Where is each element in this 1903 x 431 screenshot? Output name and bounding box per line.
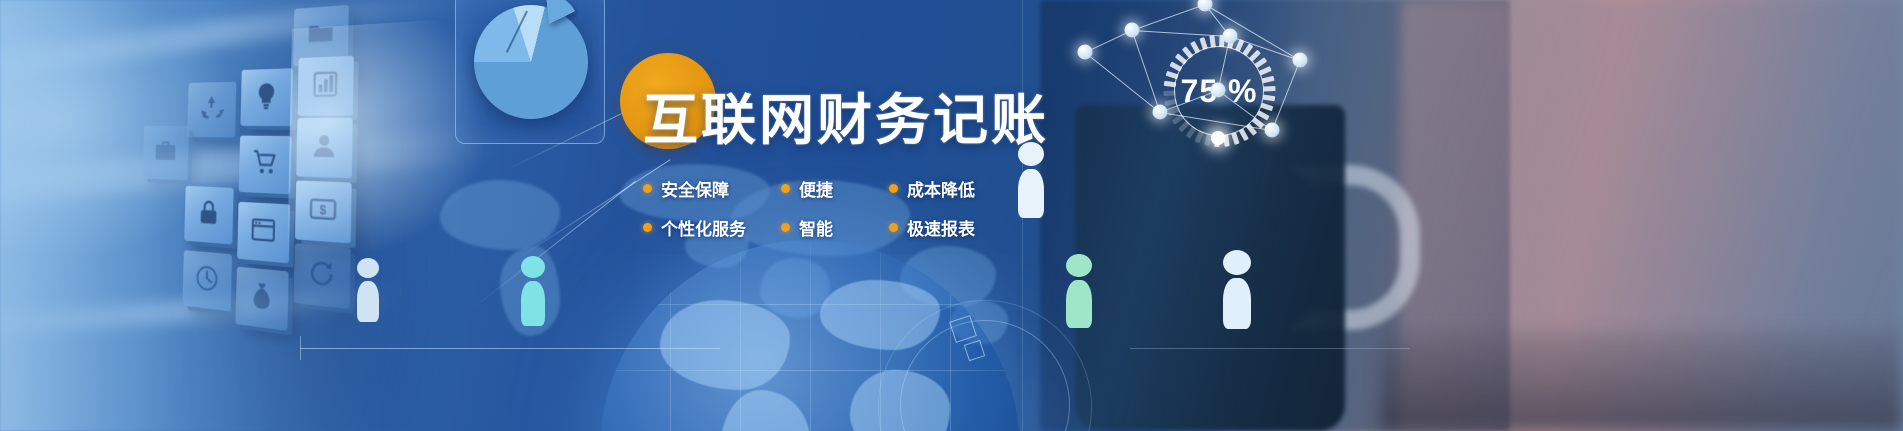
- feature-label: 个性化服务: [661, 215, 746, 240]
- briefcase-icon: [153, 136, 177, 169]
- dollar-card-icon: $: [308, 193, 337, 231]
- person-body: [521, 281, 545, 326]
- bullet-dot-icon: [781, 184, 790, 193]
- browser-window-icon: [250, 214, 278, 251]
- person-figure-3: [1018, 142, 1044, 226]
- cube-money-bag: [235, 267, 288, 331]
- feature-list: 安全保障 便捷 成本降低 个性化服务 智能 极速报表: [643, 176, 1073, 240]
- feature-label: 极速报表: [907, 215, 975, 240]
- money-bag-icon: [248, 279, 276, 317]
- network-node: [1265, 123, 1280, 138]
- floor-shadow: [1380, 330, 1903, 431]
- network-line: [1272, 60, 1301, 130]
- person-head: [1018, 142, 1044, 166]
- lock-icon: [196, 197, 222, 232]
- shopping-cart-icon: [251, 147, 278, 182]
- network-line: [1160, 112, 1272, 131]
- feature-label: 智能: [799, 215, 833, 240]
- cube-chart-bar: [297, 56, 353, 116]
- network-node: [1211, 83, 1226, 98]
- network-node: [1223, 29, 1238, 44]
- feature-label: 便捷: [799, 176, 833, 201]
- person-figure-2: [521, 256, 545, 334]
- feature-label: 成本降低: [907, 176, 975, 201]
- feature-label: 安全保障: [661, 176, 729, 201]
- cube-shopping-cart: [239, 136, 292, 195]
- user-icon: [310, 130, 339, 166]
- svg-text:$: $: [319, 204, 327, 218]
- bullet-dot-icon: [889, 184, 898, 193]
- cube-briefcase: [142, 126, 189, 181]
- person-body: [1018, 169, 1044, 218]
- feature-item-3: 个性化服务: [643, 215, 781, 240]
- feature-item-4: 智能: [781, 215, 889, 240]
- decor-hline-right: [1130, 348, 1410, 349]
- network-node: [1293, 53, 1308, 68]
- bullet-dot-icon: [781, 223, 790, 232]
- cube-clock: [182, 250, 232, 311]
- folder-icon: [306, 18, 335, 55]
- icon-cube-grid: $: [184, 1, 409, 248]
- feature-item-1: 便捷: [781, 176, 889, 201]
- cube-lightbulb: [240, 68, 293, 126]
- person-head: [1223, 250, 1251, 275]
- feature-item-2: 成本降低: [889, 176, 1073, 201]
- decor-vline-left: [300, 336, 301, 360]
- person-head: [521, 256, 545, 278]
- person-figure-5: [1223, 250, 1251, 338]
- network-diagram: [1060, 0, 1360, 190]
- person-body: [357, 281, 379, 323]
- feature-item-0: 安全保障: [643, 176, 781, 201]
- decor-hline-bottom: [300, 348, 720, 349]
- person-body: [1223, 278, 1251, 329]
- refresh-icon: [307, 256, 337, 295]
- person-figure-4: [1066, 254, 1092, 336]
- person-figure-1: [357, 258, 379, 330]
- person-head: [1066, 254, 1092, 277]
- lightbulb-icon: [253, 80, 280, 115]
- network-node: [1078, 45, 1093, 60]
- bullet-dot-icon: [643, 223, 652, 232]
- cube-user: [296, 118, 353, 178]
- chart-bar-icon: [311, 68, 340, 104]
- bullet-dot-icon: [643, 184, 652, 193]
- network-line: [1160, 90, 1218, 113]
- network-line: [1132, 30, 1230, 37]
- clock-icon: [194, 262, 220, 299]
- recycle-icon: [199, 93, 225, 126]
- cube-recycle: [187, 82, 236, 138]
- hero-banner: $ 互联网财务记账: [0, 0, 1903, 431]
- cube-dollar-card: $: [295, 180, 352, 243]
- network-line: [1205, 4, 1300, 61]
- network-node: [1125, 23, 1140, 38]
- pie-chart-panel: [455, 0, 605, 144]
- cube-refresh: [294, 243, 351, 309]
- network-line: [1132, 4, 1205, 31]
- person-head: [357, 258, 379, 278]
- cube-lock: [184, 186, 234, 245]
- bullet-dot-icon: [889, 223, 898, 232]
- network-node: [1153, 105, 1168, 120]
- feature-item-5: 极速报表: [889, 215, 1073, 240]
- person-body: [1066, 280, 1092, 328]
- cube-browser-window: [237, 202, 290, 264]
